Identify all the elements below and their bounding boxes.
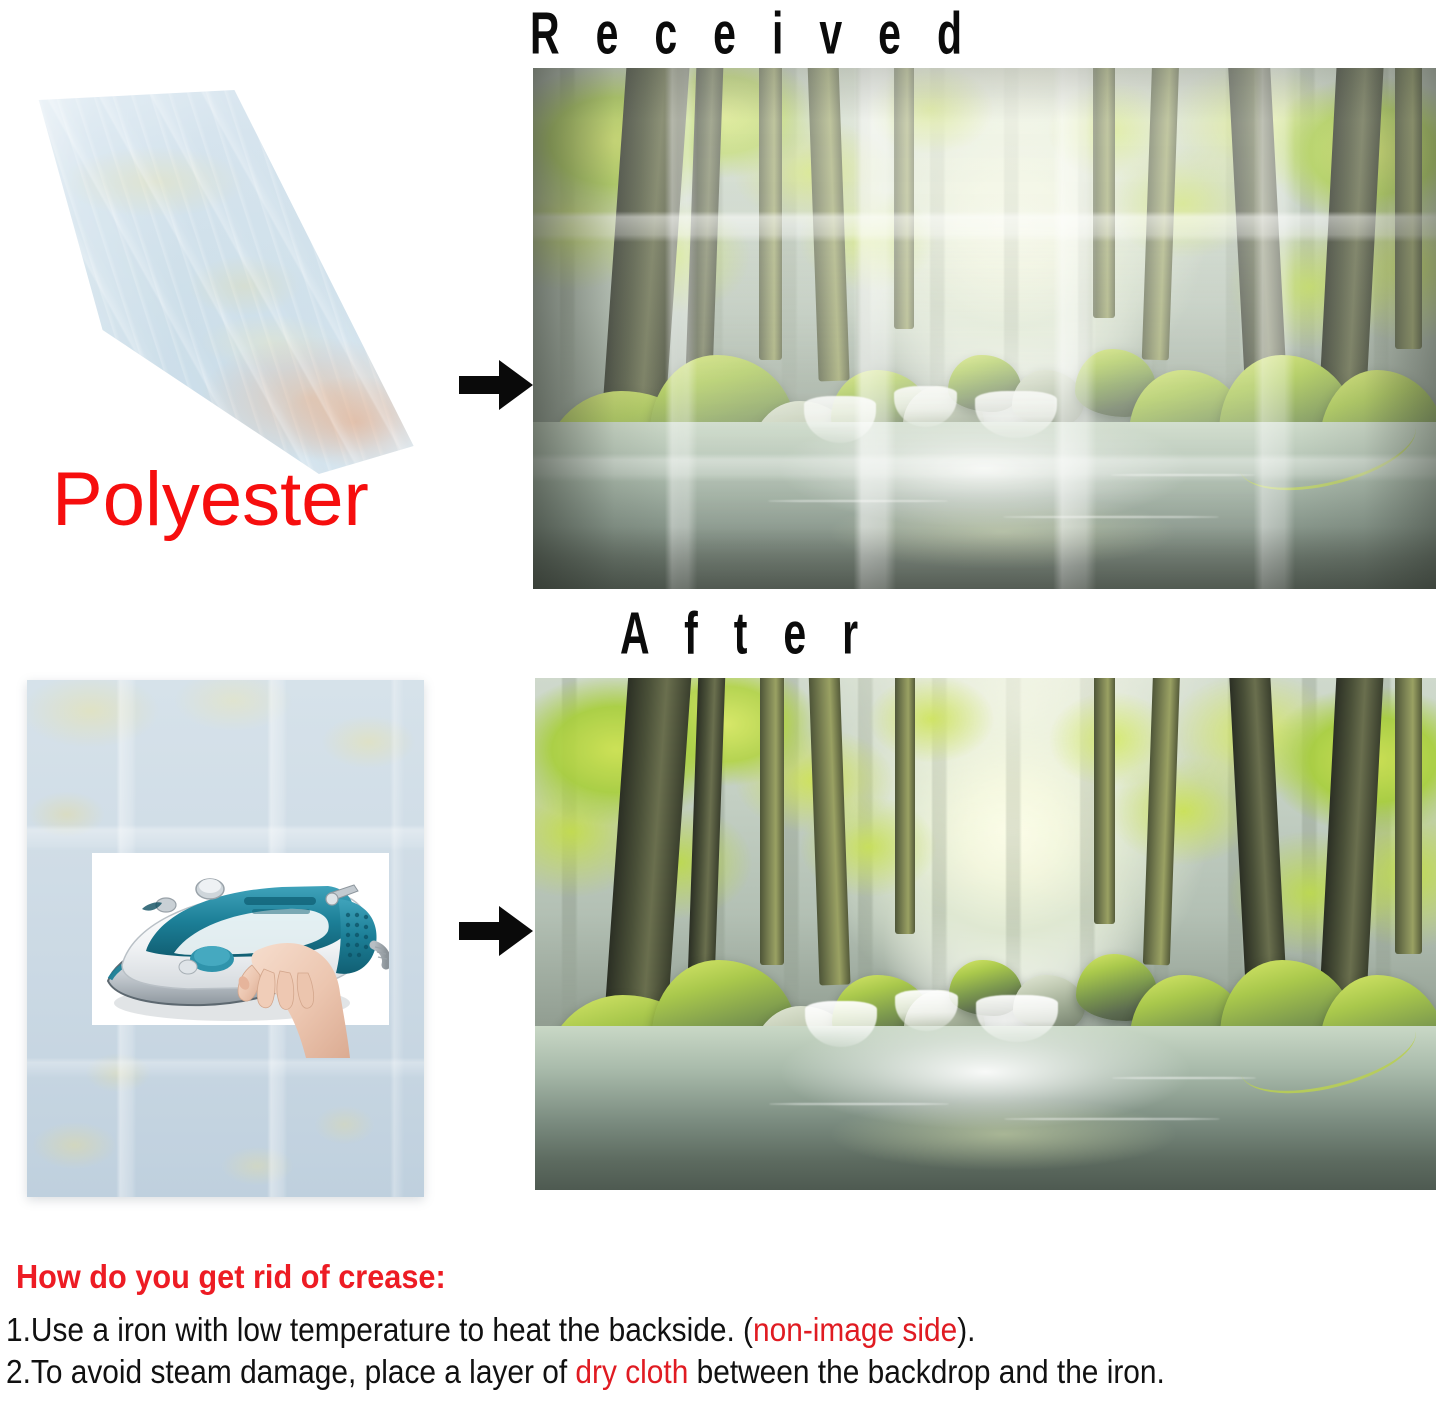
received-backdrop-image — [533, 68, 1436, 589]
folded-polyester-sheet-photo — [14, 78, 426, 478]
care-instruction-line-1: 1.Use a iron with low temperature to hea… — [6, 1311, 975, 1349]
care-line-2-highlight: dry cloth — [575, 1353, 688, 1390]
forest-waterfalls — [535, 678, 1436, 1190]
right-arrow-icon — [459, 356, 533, 414]
care-line-2-suffix: between the backdrop and the iron. — [688, 1353, 1165, 1390]
care-instruction-line-2: 2.To avoid steam damage, place a layer o… — [6, 1353, 1165, 1391]
fabric-crease-streaks — [14, 78, 426, 478]
care-line-1-highlight: non-image side — [753, 1311, 957, 1348]
care-line-1-suffix: ). — [957, 1311, 975, 1348]
after-backdrop-image — [535, 678, 1436, 1190]
product-instruction-infographic: R e c e i v e d Polyester — [0, 0, 1436, 1402]
care-line-2-prefix: 2.To avoid steam damage, place a layer o… — [6, 1353, 575, 1390]
received-section-title: R e c e i v e d — [530, 4, 974, 63]
care-line-1-prefix: 1.Use a iron with low temperature to hea… — [6, 1311, 753, 1348]
steam-iron-with-hand-photo — [92, 853, 389, 1058]
polyester-material-label: Polyester — [52, 462, 369, 538]
care-instructions-heading: How do you get rid of crease: — [16, 1258, 446, 1296]
after-section-title: A f t e r — [620, 604, 870, 663]
right-arrow-icon — [459, 902, 533, 960]
received-edge-shadow — [533, 68, 1436, 589]
